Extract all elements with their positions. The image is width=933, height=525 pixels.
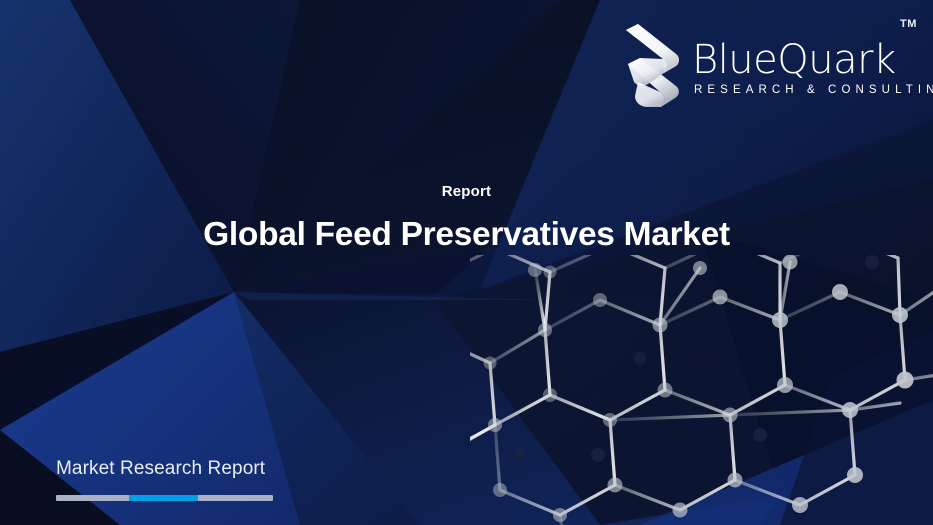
accent-bar <box>56 495 273 501</box>
brand-tagline: RESEARCH & CONSULTING <box>692 83 920 97</box>
accent-bar-segment-left <box>56 495 129 501</box>
brand-wordmark: BlueQuark RESEARCH & CONSULTING <box>692 38 920 97</box>
footer-block: Market Research Report <box>56 457 376 501</box>
title-area: Report Global Feed Preservatives Market <box>0 182 933 256</box>
brand-logo[interactable]: BlueQuark RESEARCH & CONSULTING TM <box>612 18 912 110</box>
report-kicker: Report <box>0 182 933 202</box>
brand-name: BlueQuark <box>692 38 920 82</box>
trademark-symbol: TM <box>900 18 917 30</box>
footer-label: Market Research Report <box>56 457 376 481</box>
accent-bar-segment-middle <box>129 495 198 501</box>
page-title: Global Feed Preservatives Market <box>0 214 933 256</box>
accent-bar-segment-right <box>198 495 273 501</box>
report-cover: BlueQuark RESEARCH & CONSULTING TM Repor… <box>0 0 933 525</box>
double-chevron-logo-icon <box>618 24 692 108</box>
